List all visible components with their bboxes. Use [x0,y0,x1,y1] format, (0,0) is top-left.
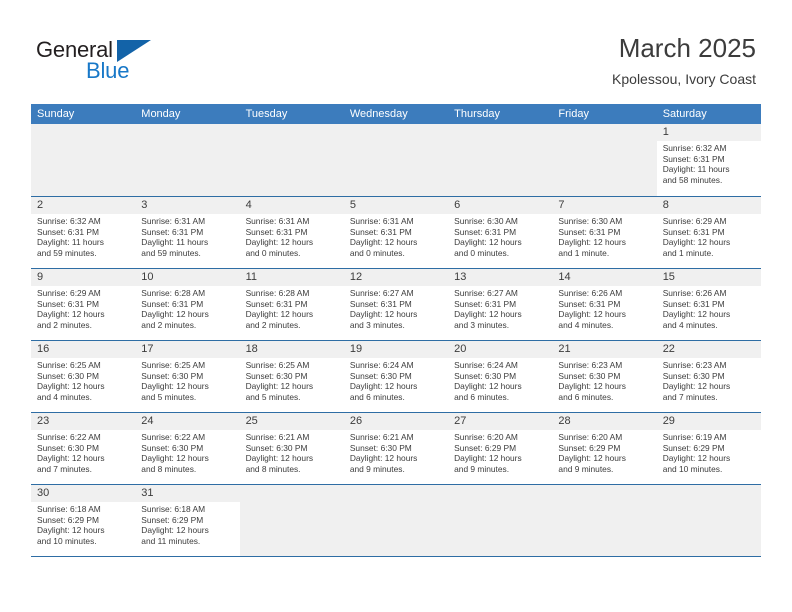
day-info: Sunrise: 6:28 AMSunset: 6:31 PMDaylight:… [240,286,344,333]
day-info: Sunrise: 6:21 AMSunset: 6:30 PMDaylight:… [344,430,448,477]
day-info: Sunrise: 6:21 AMSunset: 6:30 PMDaylight:… [240,430,344,477]
day-info-daylight2: and 1 minute. [558,248,652,259]
day-info: Sunrise: 6:27 AMSunset: 6:31 PMDaylight:… [344,286,448,333]
day-number: 9 [31,269,135,286]
day-info-sunrise: Sunrise: 6:28 AM [246,288,340,299]
day-info-sunset: Sunset: 6:31 PM [663,227,757,238]
day-info-daylight1: Daylight: 12 hours [37,453,131,464]
week-row: 30Sunrise: 6:18 AMSunset: 6:29 PMDayligh… [31,484,761,556]
day-number [240,124,344,141]
day-number: 7 [552,197,656,214]
day-number: 26 [344,413,448,430]
day-info-sunrise: Sunrise: 6:27 AM [350,288,444,299]
day-cell-empty [448,124,552,196]
day-info-sunset: Sunset: 6:30 PM [37,371,131,382]
day-info-sunrise: Sunrise: 6:19 AM [663,432,757,443]
day-info-sunset: Sunset: 6:31 PM [350,227,444,238]
day-cell[interactable]: 4Sunrise: 6:31 AMSunset: 6:31 PMDaylight… [240,197,344,268]
day-info-sunset: Sunset: 6:31 PM [37,227,131,238]
day-number: 30 [31,485,135,502]
day-info-sunset: Sunset: 6:30 PM [246,371,340,382]
day-info-daylight1: Daylight: 12 hours [454,309,548,320]
day-info-daylight1: Daylight: 12 hours [558,381,652,392]
day-cell[interactable]: 18Sunrise: 6:25 AMSunset: 6:30 PMDayligh… [240,341,344,412]
day-info-daylight2: and 8 minutes. [246,464,340,475]
day-info-daylight2: and 11 minutes. [141,536,235,547]
day-info-sunrise: Sunrise: 6:24 AM [350,360,444,371]
day-number: 29 [657,413,761,430]
day-number [31,124,135,141]
day-info: Sunrise: 6:22 AMSunset: 6:30 PMDaylight:… [135,430,239,477]
day-cell[interactable]: 31Sunrise: 6:18 AMSunset: 6:29 PMDayligh… [135,485,239,556]
calendar-page: General Blue March 2025 Kpolessou, Ivory… [0,0,792,612]
day-info: Sunrise: 6:18 AMSunset: 6:29 PMDaylight:… [31,502,135,549]
day-info-sunrise: Sunrise: 6:20 AM [558,432,652,443]
day-number: 10 [135,269,239,286]
weekday-header-friday: Friday [552,104,656,124]
day-info-sunset: Sunset: 6:29 PM [663,443,757,454]
day-info-sunset: Sunset: 6:31 PM [454,299,548,310]
day-info-sunset: Sunset: 6:30 PM [37,443,131,454]
day-cell[interactable]: 9Sunrise: 6:29 AMSunset: 6:31 PMDaylight… [31,269,135,340]
day-info: Sunrise: 6:23 AMSunset: 6:30 PMDaylight:… [657,358,761,405]
day-info-sunrise: Sunrise: 6:18 AM [141,504,235,515]
day-cell[interactable]: 7Sunrise: 6:30 AMSunset: 6:31 PMDaylight… [552,197,656,268]
weekday-header-thursday: Thursday [448,104,552,124]
day-cell[interactable]: 8Sunrise: 6:29 AMSunset: 6:31 PMDaylight… [657,197,761,268]
day-info-daylight2: and 10 minutes. [37,536,131,547]
day-info: Sunrise: 6:26 AMSunset: 6:31 PMDaylight:… [657,286,761,333]
day-cell[interactable]: 30Sunrise: 6:18 AMSunset: 6:29 PMDayligh… [31,485,135,556]
day-cell[interactable]: 6Sunrise: 6:30 AMSunset: 6:31 PMDaylight… [448,197,552,268]
title-block: March 2025 Kpolessou, Ivory Coast [612,32,756,88]
day-info-daylight2: and 3 minutes. [350,320,444,331]
day-number: 20 [448,341,552,358]
day-info: Sunrise: 6:19 AMSunset: 6:29 PMDaylight:… [657,430,761,477]
day-info-daylight2: and 6 minutes. [454,392,548,403]
day-info-daylight1: Daylight: 12 hours [350,381,444,392]
day-number: 22 [657,341,761,358]
day-info-daylight2: and 4 minutes. [558,320,652,331]
day-number [448,124,552,141]
day-info-sunset: Sunset: 6:30 PM [454,371,548,382]
day-cell[interactable]: 10Sunrise: 6:28 AMSunset: 6:31 PMDayligh… [135,269,239,340]
day-info-sunset: Sunset: 6:31 PM [246,227,340,238]
day-number [657,485,761,502]
day-number: 8 [657,197,761,214]
calendar-grid: SundayMondayTuesdayWednesdayThursdayFrid… [31,104,761,557]
day-info-daylight2: and 5 minutes. [141,392,235,403]
day-info-daylight1: Daylight: 12 hours [350,453,444,464]
day-info-sunrise: Sunrise: 6:32 AM [663,143,757,154]
day-info-sunrise: Sunrise: 6:26 AM [558,288,652,299]
day-info-daylight2: and 9 minutes. [454,464,548,475]
day-info-daylight1: Daylight: 12 hours [37,381,131,392]
day-info-sunrise: Sunrise: 6:23 AM [558,360,652,371]
day-info-daylight1: Daylight: 12 hours [663,309,757,320]
day-info-daylight1: Daylight: 12 hours [141,309,235,320]
day-cell-empty [240,485,344,556]
day-info-sunset: Sunset: 6:31 PM [350,299,444,310]
day-cell[interactable]: 17Sunrise: 6:25 AMSunset: 6:30 PMDayligh… [135,341,239,412]
day-number: 25 [240,413,344,430]
day-number [552,485,656,502]
day-info: Sunrise: 6:27 AMSunset: 6:31 PMDaylight:… [448,286,552,333]
day-number: 24 [135,413,239,430]
day-number: 23 [31,413,135,430]
day-info-daylight1: Daylight: 12 hours [558,453,652,464]
day-info: Sunrise: 6:22 AMSunset: 6:30 PMDaylight:… [31,430,135,477]
day-info-daylight1: Daylight: 12 hours [37,525,131,536]
day-info-sunrise: Sunrise: 6:31 AM [246,216,340,227]
day-info-daylight1: Daylight: 12 hours [141,381,235,392]
day-info-sunset: Sunset: 6:31 PM [558,299,652,310]
day-number: 6 [448,197,552,214]
page-subtitle: Kpolessou, Ivory Coast [612,70,756,88]
grid-bottom-border [31,556,761,557]
day-info-daylight2: and 8 minutes. [141,464,235,475]
day-info: Sunrise: 6:30 AMSunset: 6:31 PMDaylight:… [552,214,656,261]
day-info-sunset: Sunset: 6:30 PM [558,371,652,382]
day-info-sunset: Sunset: 6:31 PM [663,154,757,165]
day-info: Sunrise: 6:20 AMSunset: 6:29 PMDaylight:… [552,430,656,477]
day-info-daylight1: Daylight: 12 hours [141,525,235,536]
day-info-sunset: Sunset: 6:31 PM [558,227,652,238]
day-number: 2 [31,197,135,214]
day-cell[interactable]: 29Sunrise: 6:19 AMSunset: 6:29 PMDayligh… [657,413,761,484]
day-info: Sunrise: 6:26 AMSunset: 6:31 PMDaylight:… [552,286,656,333]
day-cell[interactable]: 14Sunrise: 6:26 AMSunset: 6:31 PMDayligh… [552,269,656,340]
week-row: 9Sunrise: 6:29 AMSunset: 6:31 PMDaylight… [31,268,761,340]
day-info-sunset: Sunset: 6:31 PM [37,299,131,310]
day-info-sunrise: Sunrise: 6:25 AM [141,360,235,371]
day-info: Sunrise: 6:24 AMSunset: 6:30 PMDaylight:… [344,358,448,405]
weekday-header-monday: Monday [135,104,239,124]
day-info-daylight1: Daylight: 11 hours [141,237,235,248]
day-number: 31 [135,485,239,502]
day-info-daylight1: Daylight: 12 hours [246,453,340,464]
day-cell-empty [344,124,448,196]
day-cell[interactable]: 22Sunrise: 6:23 AMSunset: 6:30 PMDayligh… [657,341,761,412]
day-info-sunrise: Sunrise: 6:28 AM [141,288,235,299]
day-cell[interactable]: 5Sunrise: 6:31 AMSunset: 6:31 PMDaylight… [344,197,448,268]
day-number: 19 [344,341,448,358]
day-number: 1 [657,124,761,141]
day-info-daylight2: and 0 minutes. [454,248,548,259]
day-cell[interactable]: 11Sunrise: 6:28 AMSunset: 6:31 PMDayligh… [240,269,344,340]
day-info-daylight2: and 7 minutes. [37,464,131,475]
day-info: Sunrise: 6:25 AMSunset: 6:30 PMDaylight:… [31,358,135,405]
day-number [552,124,656,141]
day-number [135,124,239,141]
day-cell[interactable]: 3Sunrise: 6:31 AMSunset: 6:31 PMDaylight… [135,197,239,268]
day-cell[interactable]: 19Sunrise: 6:24 AMSunset: 6:30 PMDayligh… [344,341,448,412]
day-info-sunrise: Sunrise: 6:22 AM [141,432,235,443]
day-info: Sunrise: 6:23 AMSunset: 6:30 PMDaylight:… [552,358,656,405]
day-cell-empty [448,485,552,556]
day-info: Sunrise: 6:31 AMSunset: 6:31 PMDaylight:… [240,214,344,261]
day-info-sunrise: Sunrise: 6:23 AM [663,360,757,371]
day-info: Sunrise: 6:32 AMSunset: 6:31 PMDaylight:… [31,214,135,261]
day-info-daylight2: and 9 minutes. [558,464,652,475]
day-info-sunset: Sunset: 6:30 PM [350,371,444,382]
day-cell[interactable]: 16Sunrise: 6:25 AMSunset: 6:30 PMDayligh… [31,341,135,412]
day-number: 21 [552,341,656,358]
day-number: 15 [657,269,761,286]
day-info-sunrise: Sunrise: 6:24 AM [454,360,548,371]
day-info-sunset: Sunset: 6:30 PM [350,443,444,454]
day-info-daylight1: Daylight: 12 hours [350,237,444,248]
day-info-sunset: Sunset: 6:29 PM [454,443,548,454]
day-number: 13 [448,269,552,286]
day-cell-empty [657,485,761,556]
day-cell[interactable]: 26Sunrise: 6:21 AMSunset: 6:30 PMDayligh… [344,413,448,484]
day-info-daylight2: and 59 minutes. [37,248,131,259]
day-info-daylight1: Daylight: 12 hours [141,453,235,464]
weekday-header-tuesday: Tuesday [240,104,344,124]
day-info-daylight2: and 0 minutes. [350,248,444,259]
day-info-sunrise: Sunrise: 6:25 AM [246,360,340,371]
day-cell-empty [344,485,448,556]
day-cell-empty [552,124,656,196]
day-cell[interactable]: 12Sunrise: 6:27 AMSunset: 6:31 PMDayligh… [344,269,448,340]
day-info: Sunrise: 6:31 AMSunset: 6:31 PMDaylight:… [344,214,448,261]
day-number: 27 [448,413,552,430]
day-cell[interactable]: 1Sunrise: 6:32 AMSunset: 6:31 PMDaylight… [657,124,761,196]
day-info-daylight2: and 7 minutes. [663,392,757,403]
day-number: 11 [240,269,344,286]
day-info-sunrise: Sunrise: 6:20 AM [454,432,548,443]
day-info-daylight1: Daylight: 12 hours [663,381,757,392]
day-info-sunset: Sunset: 6:30 PM [663,371,757,382]
day-info: Sunrise: 6:29 AMSunset: 6:31 PMDaylight:… [31,286,135,333]
day-info-daylight1: Daylight: 12 hours [454,453,548,464]
day-info-sunset: Sunset: 6:31 PM [141,227,235,238]
day-info-daylight1: Daylight: 12 hours [454,237,548,248]
day-info-daylight2: and 59 minutes. [141,248,235,259]
day-info-daylight2: and 10 minutes. [663,464,757,475]
day-info: Sunrise: 6:20 AMSunset: 6:29 PMDaylight:… [448,430,552,477]
week-row: 2Sunrise: 6:32 AMSunset: 6:31 PMDaylight… [31,196,761,268]
day-info-sunrise: Sunrise: 6:29 AM [663,216,757,227]
day-info-daylight2: and 1 minute. [663,248,757,259]
week-row: 23Sunrise: 6:22 AMSunset: 6:30 PMDayligh… [31,412,761,484]
day-number [344,485,448,502]
day-info-daylight2: and 2 minutes. [246,320,340,331]
day-info-daylight2: and 2 minutes. [141,320,235,331]
day-cell-empty [31,124,135,196]
day-info-daylight2: and 3 minutes. [454,320,548,331]
day-info: Sunrise: 6:24 AMSunset: 6:30 PMDaylight:… [448,358,552,405]
day-number: 12 [344,269,448,286]
day-info-daylight1: Daylight: 11 hours [663,164,757,175]
day-info: Sunrise: 6:29 AMSunset: 6:31 PMDaylight:… [657,214,761,261]
day-number: 14 [552,269,656,286]
day-info-sunset: Sunset: 6:29 PM [37,515,131,526]
day-number: 28 [552,413,656,430]
day-info-daylight1: Daylight: 12 hours [558,309,652,320]
day-number: 17 [135,341,239,358]
day-info: Sunrise: 6:31 AMSunset: 6:31 PMDaylight:… [135,214,239,261]
day-cell[interactable]: 20Sunrise: 6:24 AMSunset: 6:30 PMDayligh… [448,341,552,412]
day-info: Sunrise: 6:30 AMSunset: 6:31 PMDaylight:… [448,214,552,261]
day-number: 4 [240,197,344,214]
day-info: Sunrise: 6:18 AMSunset: 6:29 PMDaylight:… [135,502,239,549]
weekday-header-sunday: Sunday [31,104,135,124]
day-cell-empty [240,124,344,196]
day-info-daylight2: and 9 minutes. [350,464,444,475]
day-info-sunrise: Sunrise: 6:30 AM [454,216,548,227]
day-info-daylight1: Daylight: 12 hours [663,237,757,248]
day-info-sunrise: Sunrise: 6:21 AM [246,432,340,443]
day-info-sunrise: Sunrise: 6:30 AM [558,216,652,227]
day-info-sunrise: Sunrise: 6:26 AM [663,288,757,299]
day-info-daylight2: and 6 minutes. [350,392,444,403]
day-info-daylight2: and 4 minutes. [37,392,131,403]
day-number: 16 [31,341,135,358]
day-number [240,485,344,502]
weekday-header-row: SundayMondayTuesdayWednesdayThursdayFrid… [31,104,761,124]
day-cell[interactable]: 23Sunrise: 6:22 AMSunset: 6:30 PMDayligh… [31,413,135,484]
day-info-sunset: Sunset: 6:31 PM [454,227,548,238]
day-info-daylight1: Daylight: 12 hours [37,309,131,320]
day-info-sunset: Sunset: 6:29 PM [558,443,652,454]
day-cell[interactable]: 13Sunrise: 6:27 AMSunset: 6:31 PMDayligh… [448,269,552,340]
day-info-sunrise: Sunrise: 6:22 AM [37,432,131,443]
day-number: 5 [344,197,448,214]
day-info-daylight2: and 0 minutes. [246,248,340,259]
day-number: 3 [135,197,239,214]
day-info-daylight1: Daylight: 11 hours [37,237,131,248]
day-info-sunrise: Sunrise: 6:32 AM [37,216,131,227]
day-cell[interactable]: 24Sunrise: 6:22 AMSunset: 6:30 PMDayligh… [135,413,239,484]
day-info-sunrise: Sunrise: 6:25 AM [37,360,131,371]
day-info-sunset: Sunset: 6:30 PM [141,443,235,454]
day-info-daylight1: Daylight: 12 hours [454,381,548,392]
week-row: 1Sunrise: 6:32 AMSunset: 6:31 PMDaylight… [31,124,761,196]
day-info-sunset: Sunset: 6:29 PM [141,515,235,526]
day-info: Sunrise: 6:28 AMSunset: 6:31 PMDaylight:… [135,286,239,333]
day-info-sunrise: Sunrise: 6:29 AM [37,288,131,299]
page-title: March 2025 [612,32,756,64]
day-cell-empty [552,485,656,556]
day-info: Sunrise: 6:25 AMSunset: 6:30 PMDaylight:… [135,358,239,405]
day-info-sunset: Sunset: 6:31 PM [663,299,757,310]
day-info-sunrise: Sunrise: 6:27 AM [454,288,548,299]
day-info-sunset: Sunset: 6:30 PM [246,443,340,454]
day-info-daylight2: and 58 minutes. [663,175,757,186]
day-info-daylight1: Daylight: 12 hours [246,309,340,320]
day-info-daylight1: Daylight: 12 hours [246,237,340,248]
weekday-header-saturday: Saturday [657,104,761,124]
day-info-sunset: Sunset: 6:31 PM [141,299,235,310]
day-cell[interactable]: 27Sunrise: 6:20 AMSunset: 6:29 PMDayligh… [448,413,552,484]
day-info-daylight2: and 5 minutes. [246,392,340,403]
day-info-sunset: Sunset: 6:30 PM [141,371,235,382]
page-header: General Blue March 2025 Kpolessou, Ivory… [0,0,792,102]
day-cell[interactable]: 21Sunrise: 6:23 AMSunset: 6:30 PMDayligh… [552,341,656,412]
day-cell[interactable]: 15Sunrise: 6:26 AMSunset: 6:31 PMDayligh… [657,269,761,340]
day-cell[interactable]: 25Sunrise: 6:21 AMSunset: 6:30 PMDayligh… [240,413,344,484]
day-info-sunrise: Sunrise: 6:21 AM [350,432,444,443]
day-number [344,124,448,141]
weekday-header-wednesday: Wednesday [344,104,448,124]
day-cell-empty [135,124,239,196]
day-info-daylight2: and 4 minutes. [663,320,757,331]
day-info-daylight2: and 6 minutes. [558,392,652,403]
day-info-sunrise: Sunrise: 6:31 AM [141,216,235,227]
day-info-daylight1: Daylight: 12 hours [558,237,652,248]
day-info-daylight2: and 2 minutes. [37,320,131,331]
day-info: Sunrise: 6:25 AMSunset: 6:30 PMDaylight:… [240,358,344,405]
logo-text-blue: Blue [86,59,129,83]
day-info: Sunrise: 6:32 AMSunset: 6:31 PMDaylight:… [657,141,761,188]
day-info-daylight1: Daylight: 12 hours [246,381,340,392]
day-info-sunrise: Sunrise: 6:31 AM [350,216,444,227]
day-number: 18 [240,341,344,358]
general-blue-logo[interactable]: General Blue [36,38,216,88]
weeks-container: 1Sunrise: 6:32 AMSunset: 6:31 PMDaylight… [31,124,761,556]
day-info-daylight1: Daylight: 12 hours [350,309,444,320]
day-number [448,485,552,502]
day-info-sunrise: Sunrise: 6:18 AM [37,504,131,515]
day-info-daylight1: Daylight: 12 hours [663,453,757,464]
day-cell[interactable]: 28Sunrise: 6:20 AMSunset: 6:29 PMDayligh… [552,413,656,484]
week-row: 16Sunrise: 6:25 AMSunset: 6:30 PMDayligh… [31,340,761,412]
day-cell[interactable]: 2Sunrise: 6:32 AMSunset: 6:31 PMDaylight… [31,197,135,268]
day-info-sunset: Sunset: 6:31 PM [246,299,340,310]
